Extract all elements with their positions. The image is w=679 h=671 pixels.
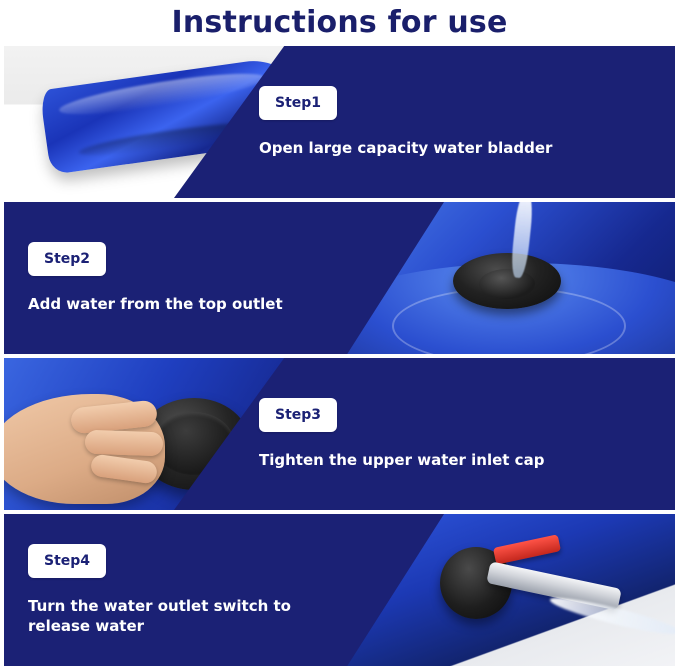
step-badge-4: Step4 xyxy=(28,544,106,578)
step-row-2: Step2 Add water from the top outlet xyxy=(4,202,675,354)
valve-red-handle xyxy=(493,535,561,565)
step-row-3: Step3 Tighten the upper water inlet cap xyxy=(4,358,675,510)
inlet-cap-top xyxy=(479,269,535,299)
steps-list: Step1 Open large capacity water bladder … xyxy=(4,46,675,666)
step-text-2: Add water from the top outlet xyxy=(28,294,348,314)
page-title: Instructions for use xyxy=(0,0,679,46)
step-text-3: Tighten the upper water inlet cap xyxy=(259,450,579,470)
step-text-1: Open large capacity water bladder xyxy=(259,138,579,158)
step-badge-1: Step1 xyxy=(259,86,337,120)
step-row-1: Step1 Open large capacity water bladder xyxy=(4,46,675,198)
step-badge-3: Step3 xyxy=(259,398,337,432)
step-row-4: Step4 Turn the water outlet switch to re… xyxy=(4,514,675,666)
step-badge-2: Step2 xyxy=(28,242,106,276)
instructions-page: Instructions for use Step1 Open large ca… xyxy=(0,0,679,671)
finger-middle xyxy=(84,430,163,457)
step-text-4: Turn the water outlet switch to release … xyxy=(28,596,348,637)
